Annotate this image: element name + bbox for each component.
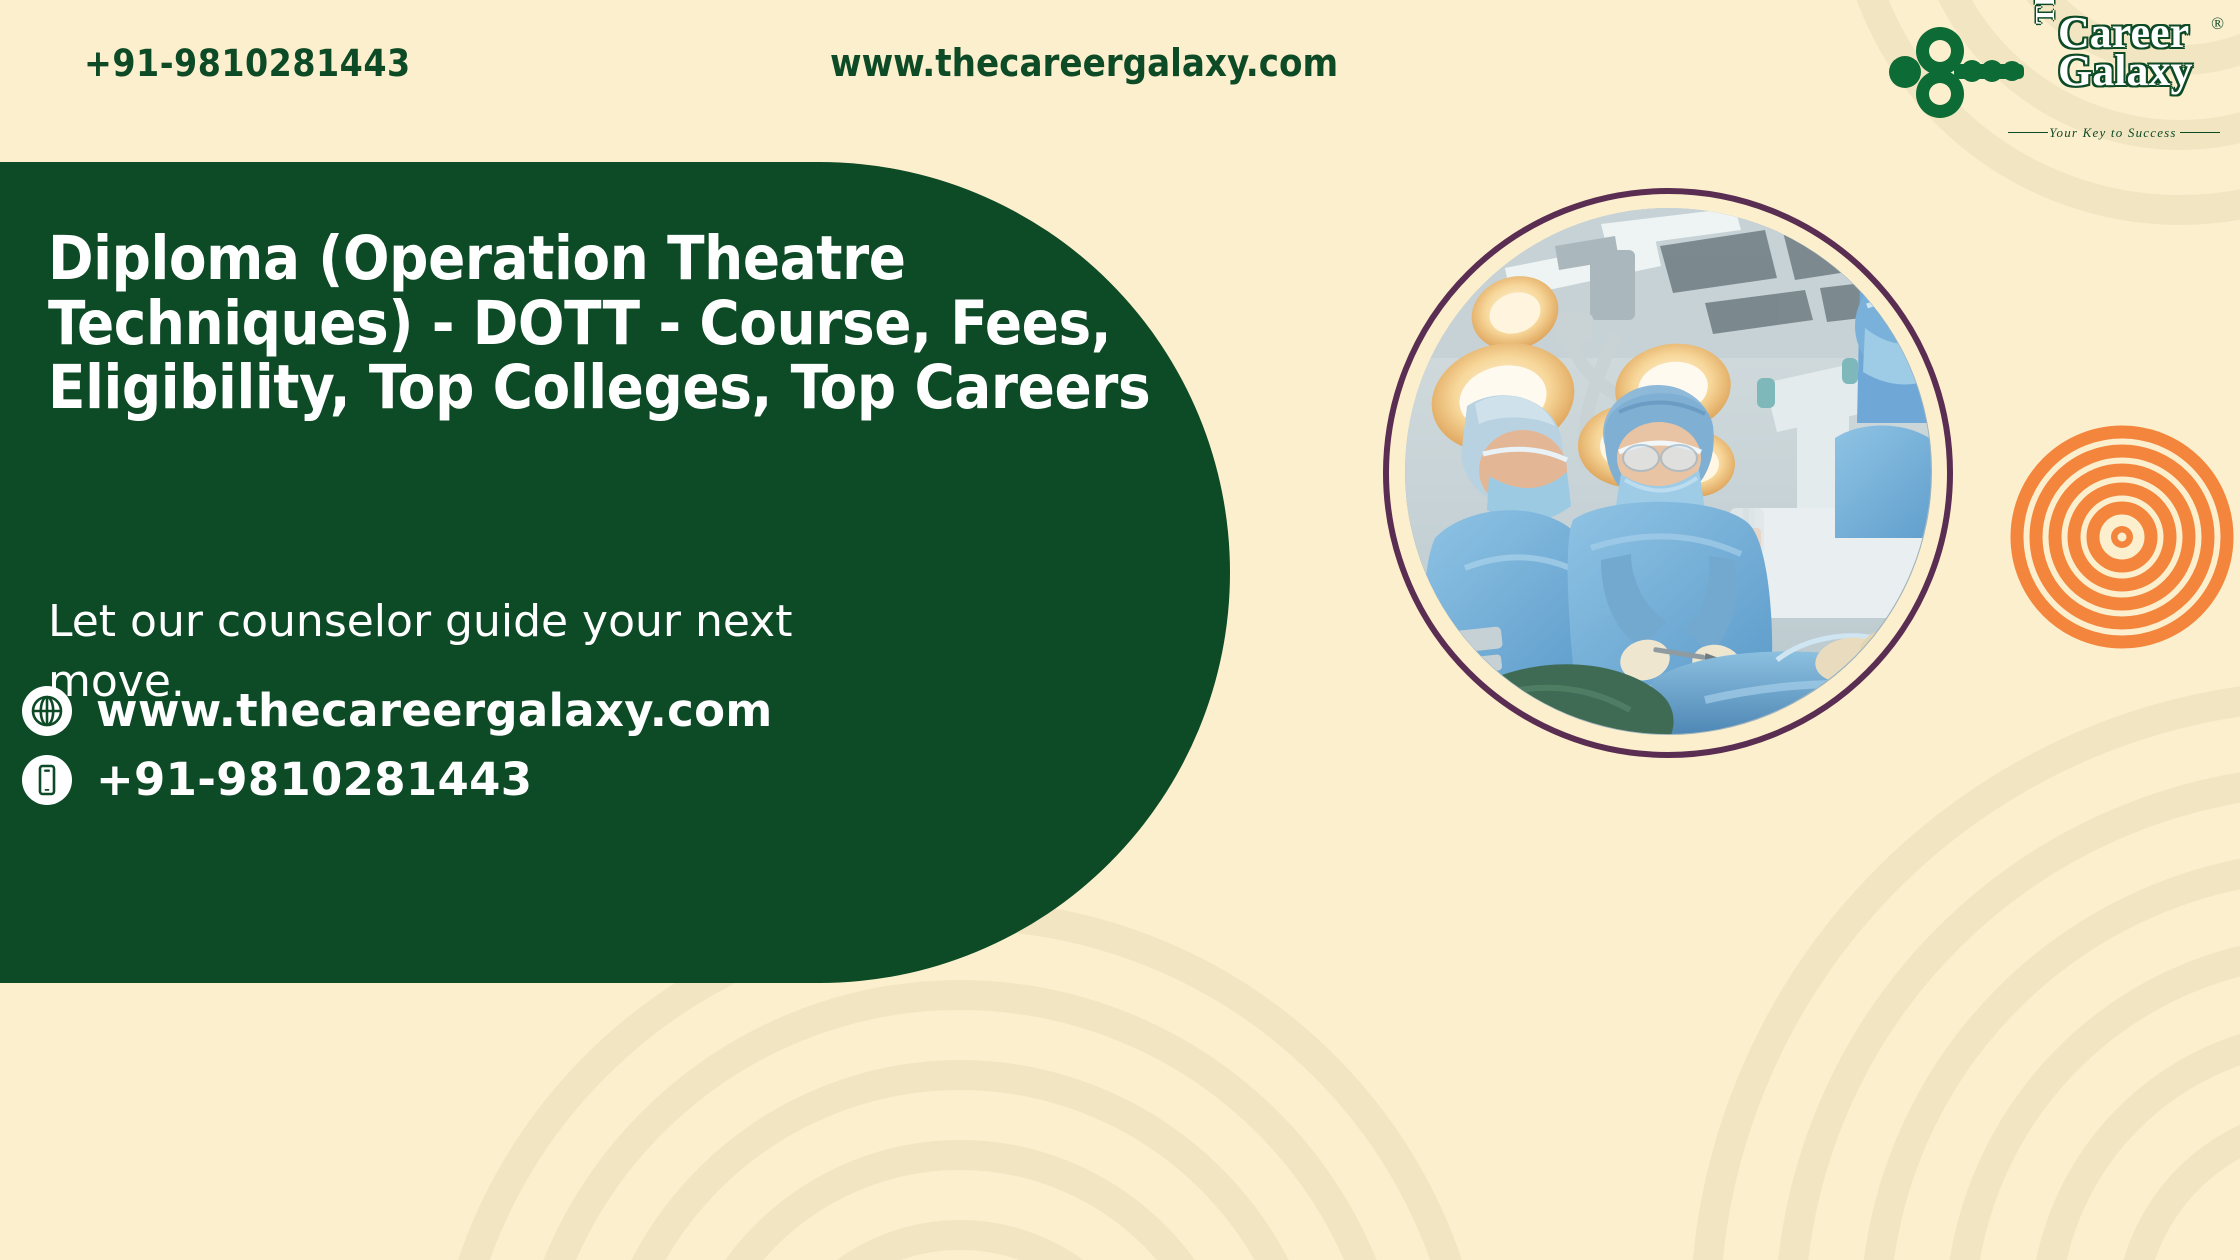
contact-phone-text: +91-9810281443 [96, 753, 532, 806]
logo-the-text: The [2034, 0, 2057, 24]
concentric-circles-decoration [2010, 425, 2235, 650]
operating-theatre-photo [1405, 208, 1932, 735]
brand-logo[interactable]: The Career Galaxy ® Your Key to Success [1888, 10, 2218, 145]
hero-content: Diploma (Operation Theatre Techniques) -… [0, 162, 1290, 983]
globe-icon [22, 686, 72, 736]
contact-website-text: www.thecareergalaxy.com [96, 684, 773, 737]
logo-tagline: Your Key to Success [2008, 125, 2218, 141]
logo-wordmark: The Career Galaxy [2036, 14, 2192, 90]
registered-trademark-icon: ® [2211, 14, 2224, 34]
header-website[interactable]: www.thecareergalaxy.com [830, 41, 1338, 85]
banner-canvas: +91-9810281443 www.thecareergalaxy.com [0, 0, 2240, 1260]
contact-row-website[interactable]: www.thecareergalaxy.com [22, 684, 773, 737]
contact-list: www.thecareergalaxy.com +91-9810281443 [22, 684, 773, 822]
page-title: Diploma (Operation Theatre Techniques) -… [48, 227, 1248, 421]
header-phone[interactable]: +91-9810281443 [84, 42, 411, 85]
key-icon [1888, 24, 2038, 120]
contact-row-phone[interactable]: +91-9810281443 [22, 753, 773, 806]
top-bar: +91-9810281443 www.thecareergalaxy.com [0, 0, 2240, 162]
mobile-phone-icon [22, 755, 72, 805]
logo-galaxy-text: Galaxy [2058, 52, 2192, 90]
